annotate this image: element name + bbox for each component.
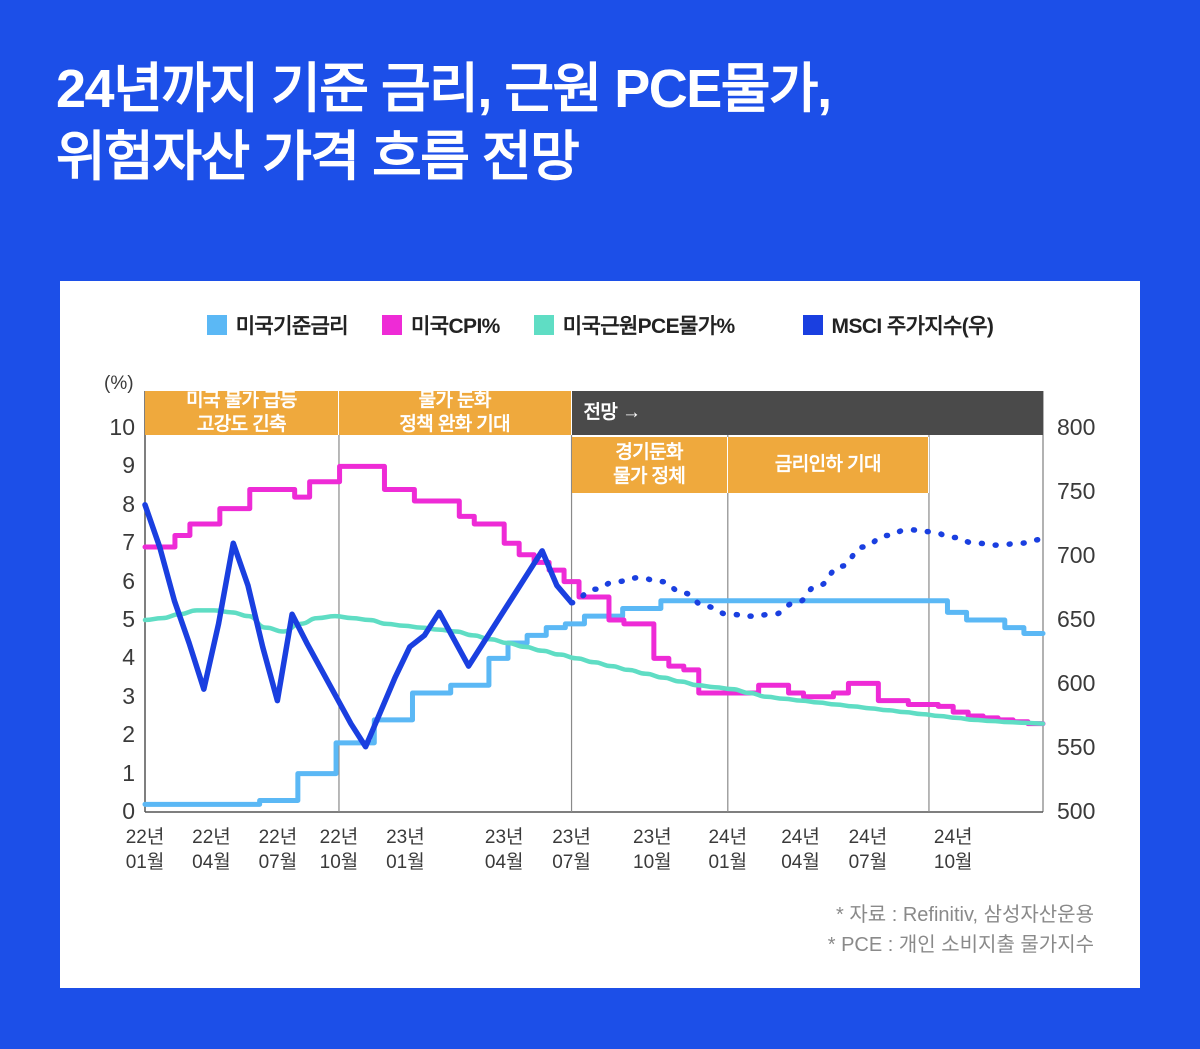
y-tick-right-600: 600 [1057, 670, 1119, 697]
x-tick-4: 23년 01월 [363, 826, 447, 875]
annotation-band-3: 경기둔화 물가 정체 [572, 437, 728, 493]
y-tick-left-3: 3 [93, 683, 135, 710]
y-tick-right-800: 800 [1057, 414, 1119, 441]
y-tick-right-550: 550 [1057, 734, 1119, 761]
y-tick-left-5: 5 [93, 606, 135, 633]
x-tick-8: 24년 01월 [686, 826, 770, 875]
y-tick-left-7: 7 [93, 529, 135, 556]
chart-card: 미국기준금리미국CPI%미국근원PCE물가%MSCI 주가지수(우) (%) 0… [60, 281, 1140, 988]
y-tick-right-700: 700 [1057, 542, 1119, 569]
page-title: 24년까지 기준 금리, 근원 PCE물가, 위험자산 가격 흐름 전망 [56, 55, 1136, 191]
x-tick-11: 24년 10월 [911, 826, 995, 875]
y-tick-left-8: 8 [93, 491, 135, 518]
chart-canvas [60, 281, 1140, 988]
y-tick-right-750: 750 [1057, 478, 1119, 505]
annotation-band-1: 물가 둔화 정책 완화 기대 [339, 391, 572, 435]
chart-footnote: * 자료 : Refinitiv, 삼성자산운용 * PCE : 개인 소비지출… [828, 900, 1094, 960]
y-tick-left-9: 9 [93, 452, 135, 479]
y-axis-unit-label: (%) [104, 373, 134, 395]
infographic-page: 24년까지 기준 금리, 근원 PCE물가, 위험자산 가격 흐름 전망 미국기… [0, 0, 1200, 1049]
annotation-band-2: 전망 → [572, 391, 1043, 435]
y-tick-left-10: 10 [93, 414, 135, 441]
y-tick-left-2: 2 [93, 721, 135, 748]
annotation-band-4: 금리인하 기대 [728, 437, 929, 493]
x-tick-7: 23년 10월 [610, 826, 694, 875]
x-tick-6: 23년 07월 [530, 826, 614, 875]
y-tick-right-650: 650 [1057, 606, 1119, 633]
y-tick-left-0: 0 [93, 798, 135, 825]
y-tick-right-500: 500 [1057, 798, 1119, 825]
annotation-band-0: 미국 물가 급등 고강도 긴축 [145, 391, 339, 435]
y-tick-left-1: 1 [93, 760, 135, 787]
x-tick-10: 24년 07월 [826, 826, 910, 875]
plot-area: (%) 01234567891050055060065070075080022년… [60, 281, 1140, 988]
y-tick-left-6: 6 [93, 568, 135, 595]
y-tick-left-4: 4 [93, 644, 135, 671]
